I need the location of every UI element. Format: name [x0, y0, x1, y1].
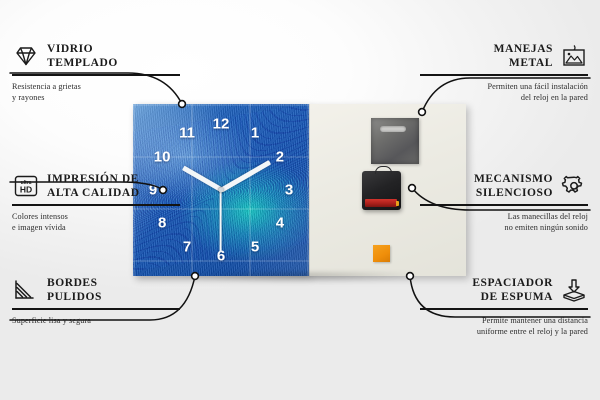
- picture-hanger-icon: [560, 44, 588, 69]
- feature-divider: [420, 308, 588, 310]
- feature-impresion-alta-calidad: ultra HD IMPRESIÓN DE ALTA CALIDAD Color…: [12, 172, 180, 233]
- clock-numeral-3: 3: [285, 183, 293, 198]
- feature-description: Las manecillas del relojno emiten ningún…: [420, 211, 588, 234]
- feature-title: VIDRIO TEMPLADO: [47, 42, 118, 70]
- mechanism-hanging-loop: [375, 166, 392, 174]
- clock-numeral-1: 1: [251, 125, 259, 140]
- clock-numeral-4: 4: [276, 216, 284, 231]
- feature-title: MANEJAS METAL: [494, 42, 553, 70]
- feature-divider: [420, 74, 588, 76]
- feature-description: Superficie lisa y segura: [12, 315, 180, 326]
- feature-bordes-pulidos: BORDES PULIDOS Superficie lisa y segura: [12, 276, 180, 326]
- orange-foam-spacer: [373, 245, 390, 262]
- feature-description: Colores intensose imagen vívida: [12, 211, 180, 234]
- feature-description: Resistencia a grietasy rayones: [12, 81, 180, 104]
- clock-numeral-5: 5: [251, 240, 259, 255]
- diamond-icon: [12, 44, 40, 69]
- clock-numeral-7: 7: [183, 240, 191, 255]
- ultra-hd-icon: ultra HD: [12, 174, 40, 199]
- gear-icon: [560, 174, 588, 199]
- feature-divider: [12, 204, 180, 206]
- feature-title: BORDES PULIDOS: [47, 276, 102, 304]
- feature-espaciador-espuma: ESPACIADOR DE ESPUMA Permite mantener un…: [420, 276, 588, 337]
- feature-divider: [420, 204, 588, 206]
- feature-description: Permite mantener una distanciauniforme e…: [420, 315, 588, 338]
- feature-vidrio-templado: VIDRIO TEMPLADO Resistencia a grietasy r…: [12, 42, 180, 103]
- silent-mechanism-box: [362, 171, 401, 210]
- svg-text:HD: HD: [20, 185, 32, 195]
- feature-title: ESPACIADOR DE ESPUMA: [472, 276, 553, 304]
- feature-title: MECANISMO SILENCIOSO: [474, 172, 553, 200]
- hanger-keyhole-slot: [380, 126, 406, 132]
- clock-second-hand: [220, 190, 222, 252]
- clock-numeral-10: 10: [154, 150, 171, 165]
- feature-divider: [12, 308, 180, 310]
- feature-mecanismo-silencioso: MECANISMO SILENCIOSO Las manecillas del …: [420, 172, 588, 233]
- diagonal-stripes-icon: [12, 278, 40, 303]
- feature-title: IMPRESIÓN DE ALTA CALIDAD: [47, 172, 140, 200]
- clock-numeral-12: 12: [213, 117, 230, 132]
- product-drop-shadow: [133, 272, 468, 288]
- feature-divider: [12, 74, 180, 76]
- infographic-canvas: 121234567891011: [0, 0, 600, 400]
- arrow-onto-layers-icon: [560, 278, 588, 303]
- feature-manejas-metal: MANEJAS METAL Permiten una fácil instala…: [420, 42, 588, 103]
- aa-battery: [365, 199, 397, 207]
- metal-hanger-plate: [371, 118, 419, 164]
- clock-numeral-11: 11: [179, 125, 195, 140]
- clock-center-hub: [219, 188, 224, 193]
- feature-description: Permiten una fácil instalacióndel reloj …: [420, 81, 588, 104]
- clock-numeral-2: 2: [276, 150, 284, 165]
